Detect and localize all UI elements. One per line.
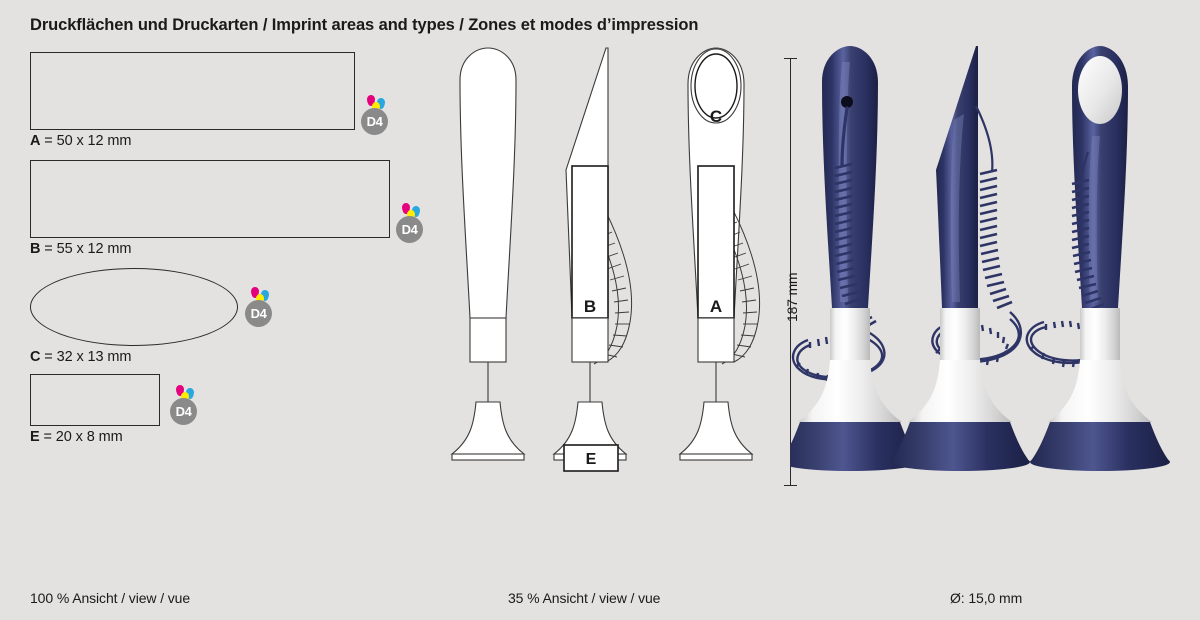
technical-drawings: B E C (420, 40, 790, 505)
imprint-code-c: C (30, 349, 40, 365)
badge-label-e: D4 (170, 398, 197, 425)
badge-label-a: D4 (361, 108, 388, 135)
render-pen-angled (890, 46, 1030, 471)
imprint-area-a: A = 50 x 12 mm (30, 52, 355, 149)
scale-note-left: 100 % Ansicht / view / vue (30, 590, 190, 606)
imprint-code-a: A (30, 133, 40, 149)
page-title: Druckflächen und Druckarten / Imprint ar… (30, 16, 698, 35)
badge-label-b: D4 (396, 216, 423, 243)
tech-zone-label-c: C (710, 107, 722, 126)
tech-zone-label-a: A (710, 297, 722, 316)
imprint-shape-e (30, 374, 160, 426)
product-renders-svg (790, 40, 1190, 500)
badge-label-c: D4 (245, 300, 272, 327)
imprint-code-b: B (30, 241, 40, 257)
product-renders (790, 40, 1190, 505)
diameter-note: Ø: 15,0 mm (950, 590, 1022, 606)
imprint-dims-b: = 55 x 12 mm (40, 241, 131, 257)
spec-sheet: Druckflächen und Druckarten / Imprint ar… (0, 0, 1200, 620)
imprint-dims-a: = 50 x 12 mm (40, 133, 131, 149)
imprint-area-b: B = 55 x 12 mm (30, 160, 390, 257)
tech-view-plain (452, 48, 524, 460)
tech-view-oval: C A (680, 48, 760, 460)
tech-zone-label-e: E (586, 451, 597, 468)
imprint-area-e: E = 20 x 8 mm (30, 374, 160, 445)
imprint-dims-c: = 32 x 13 mm (40, 349, 131, 365)
render-pen-oval (1027, 46, 1170, 471)
tech-zone-label-b: B (584, 297, 596, 316)
imprint-code-e: E (30, 429, 40, 445)
technical-drawing-svg: B E C (420, 40, 790, 500)
tech-view-angled: B E (554, 48, 632, 471)
render-cord-port-icon (841, 96, 853, 108)
print-method-badge-a[interactable]: D4 (361, 95, 391, 135)
imprint-shape-a (30, 52, 355, 130)
scale-note-middle: 35 % Ansicht / view / vue (508, 590, 660, 606)
imprint-shape-c (30, 268, 238, 346)
print-method-badge-e[interactable]: D4 (170, 385, 200, 425)
render-oval-imprint-plate (1078, 56, 1122, 124)
render-pen-rounded (790, 46, 920, 471)
imprint-area-c: C = 32 x 13 mm (30, 268, 238, 365)
imprint-dims-e: = 20 x 8 mm (40, 429, 123, 445)
imprint-caption-a: A = 50 x 12 mm (30, 133, 355, 149)
imprint-caption-b: B = 55 x 12 mm (30, 241, 390, 257)
imprint-caption-c: C = 32 x 13 mm (30, 349, 238, 365)
imprint-caption-e: E = 20 x 8 mm (30, 429, 160, 445)
imprint-shape-b (30, 160, 390, 238)
print-method-badge-c[interactable]: D4 (245, 287, 275, 327)
